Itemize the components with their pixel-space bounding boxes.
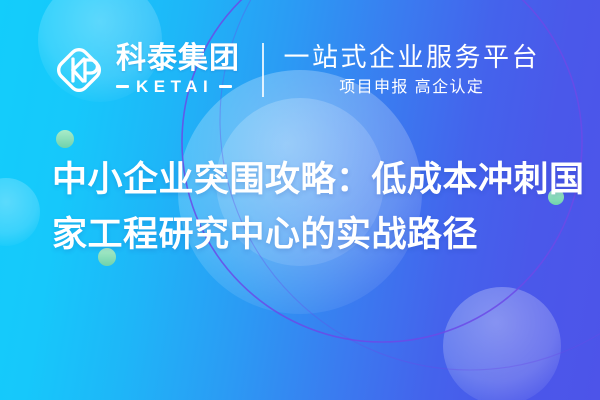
banner-header: 科泰集团 KETAI 一站式企业服务平台 项目申报 高企认定 [52, 34, 540, 106]
soft-circle-left-edge [0, 178, 40, 246]
promo-banner: 科泰集团 KETAI 一站式企业服务平台 项目申报 高企认定 中小企业突围攻略：… [0, 0, 600, 400]
headline-line-1: 中小企业突围攻略：低成本冲刺国 [52, 152, 572, 207]
tagline-main: 一站式企业服务平台 [284, 43, 541, 72]
wordmark-dash-right [219, 85, 232, 88]
company-name-en: KETAI [129, 78, 219, 95]
tagline-block: 一站式企业服务平台 项目申报 高企认定 [284, 43, 541, 98]
headline-block: 中小企业突围攻略：低成本冲刺国 家工程研究中心的实战路径 [52, 152, 572, 262]
header-divider [262, 43, 264, 97]
soft-circle-bottom-right [443, 287, 561, 400]
ketai-kp-monogram-icon [52, 43, 106, 97]
wordmark-dash-left [116, 85, 129, 88]
brand-logo[interactable]: 科泰集团 KETAI [52, 43, 240, 97]
brand-wordmark: 科泰集团 KETAI [116, 44, 240, 95]
headline-line-2: 家工程研究中心的实战路径 [52, 207, 572, 262]
company-name-en-row: KETAI [116, 78, 240, 95]
green-dot-upper-left [56, 130, 74, 148]
tagline-sub: 项目申报 高企认定 [284, 79, 541, 97]
company-name-cn: 科泰集团 [116, 44, 240, 75]
